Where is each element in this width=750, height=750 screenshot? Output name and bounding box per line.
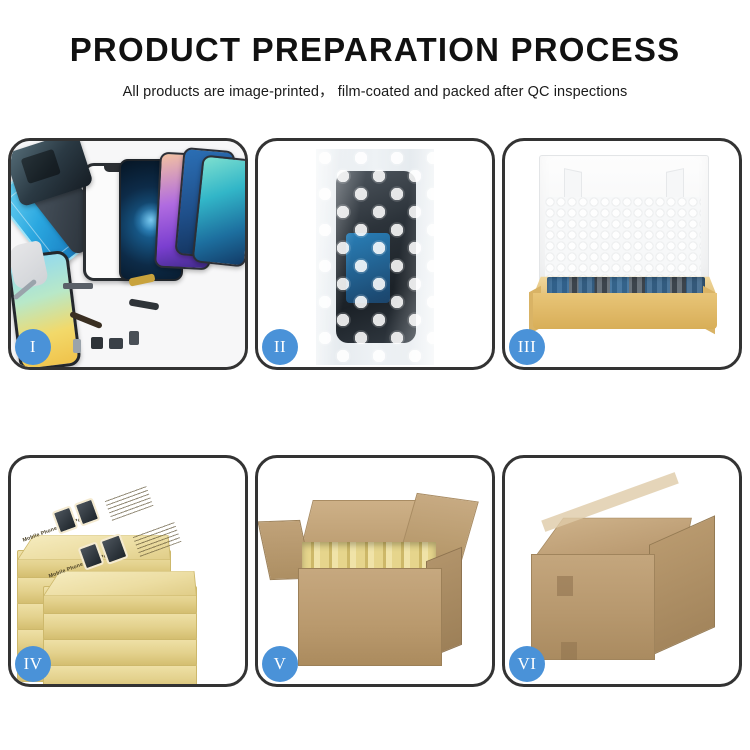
step-5-image	[258, 458, 492, 684]
step-2-image	[258, 141, 492, 367]
part-speaker-bar	[63, 283, 93, 289]
step-numeral-3: III	[518, 337, 536, 357]
step-numeral-6: VI	[518, 654, 537, 674]
step-4-image: Mobile Phone Spare Parts Mobile Phone Sp…	[11, 458, 245, 684]
part-camera-module	[91, 337, 103, 349]
step-badge-2: II	[262, 329, 298, 365]
step-panel-3[interactable]: III	[502, 138, 742, 370]
step-numeral-1: I	[30, 337, 36, 357]
carton-front-panel	[531, 554, 655, 660]
step-panel-6[interactable]: VI	[502, 455, 742, 687]
step-panel-4[interactable]: Mobile Phone Spare Parts Mobile Phone Sp…	[8, 455, 248, 687]
plastic-sheen	[316, 149, 434, 365]
carton-flap-tab	[561, 642, 577, 660]
step-panel-2[interactable]: II	[255, 138, 495, 370]
step-1-image	[11, 141, 245, 367]
stacked-box	[43, 612, 197, 640]
step-badge-3: III	[509, 329, 545, 365]
part-sim-tray	[73, 339, 81, 353]
step-numeral-2: II	[274, 337, 286, 357]
stacked-box	[43, 638, 197, 666]
foam-texture	[545, 197, 701, 279]
step-badge-6: VI	[509, 646, 545, 682]
step-panel-5[interactable]: V	[255, 455, 495, 687]
step-panel-1[interactable]: I	[8, 138, 248, 370]
step-6-image	[505, 458, 739, 684]
step-badge-1: I	[15, 329, 51, 365]
page-title: PRODUCT PREPARATION PROCESS	[0, 32, 750, 68]
part-connector-block	[109, 338, 123, 349]
step-badge-4: IV	[15, 646, 51, 682]
box-print-speclines	[105, 485, 154, 521]
part-vibration-motor	[129, 331, 139, 345]
bubble-wrap-sleeve	[316, 149, 434, 365]
page-subtitle: All products are image-printed， film-coa…	[0, 80, 750, 101]
carton-flap-tab	[557, 576, 573, 596]
step-badge-5: V	[262, 646, 298, 682]
carton-front-panel	[298, 568, 442, 666]
step-3-image	[505, 141, 739, 367]
stacked-box	[43, 664, 197, 684]
step-numeral-4: IV	[24, 654, 43, 674]
stacked-box-top-face	[43, 571, 197, 596]
step-numeral-5: V	[274, 654, 287, 674]
process-steps-grid: I II III	[8, 138, 742, 687]
kraft-tray-front	[533, 293, 717, 329]
page-header: PRODUCT PREPARATION PROCESS All products…	[0, 0, 750, 101]
